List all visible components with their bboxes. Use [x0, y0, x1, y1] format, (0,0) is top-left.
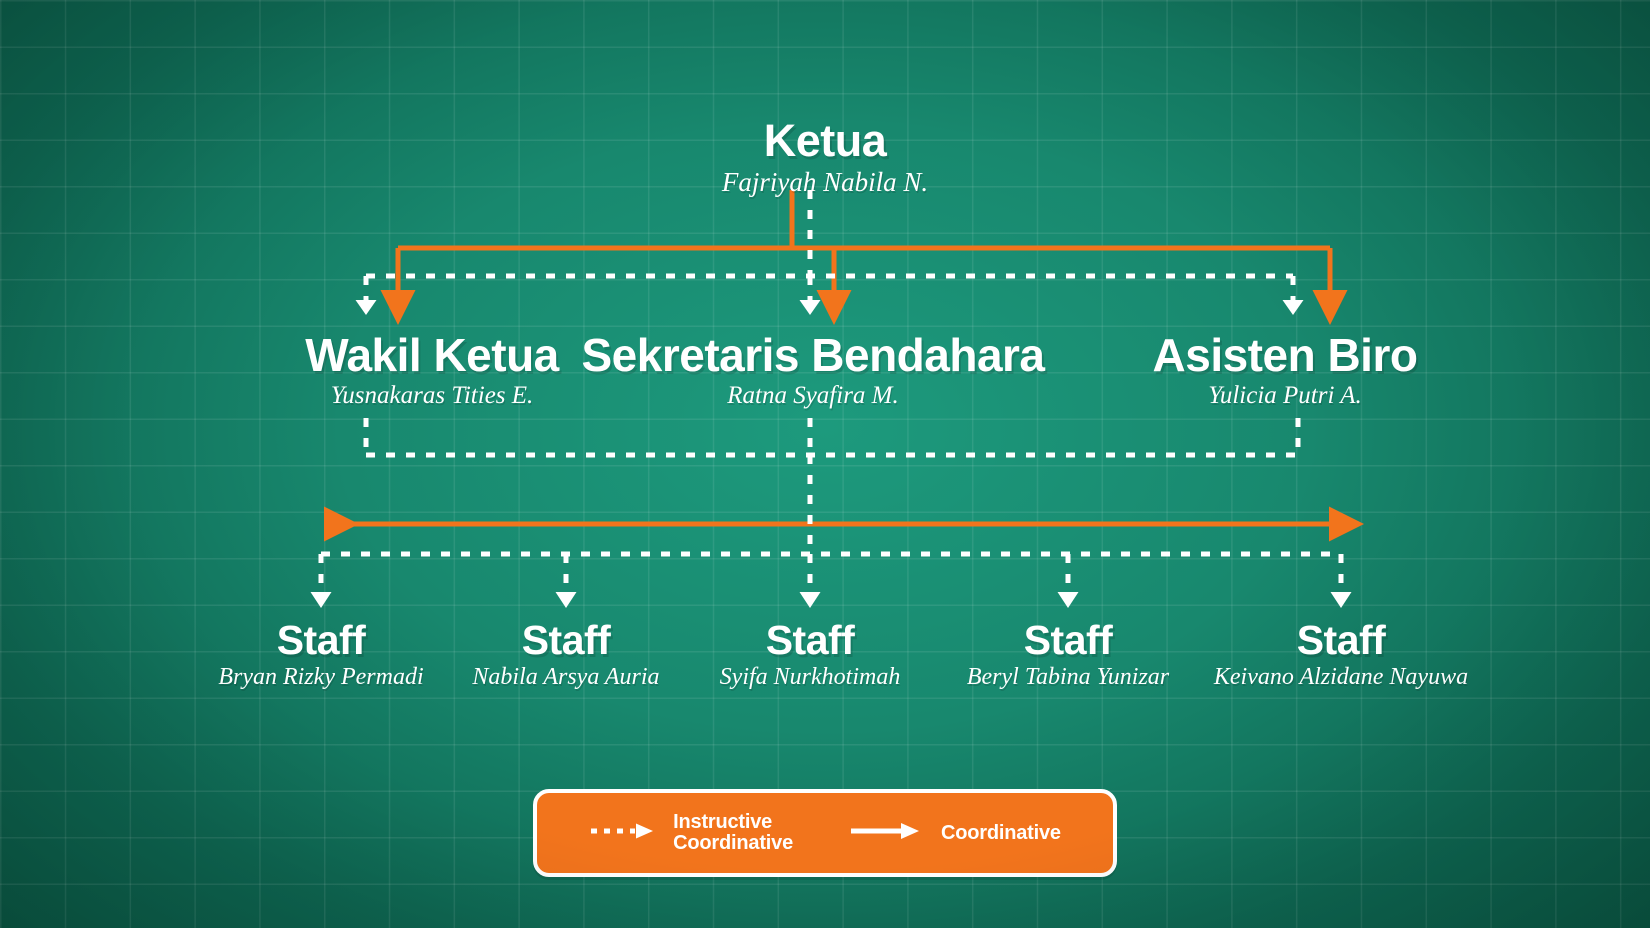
node-person: Fajriyah Nabila N.: [0, 168, 1650, 198]
legend-label-line1: Instructive: [673, 811, 772, 833]
node-ketua[interactable]: Ketua Fajriyah Nabila N.: [0, 118, 1650, 198]
node-title: Staff: [1121, 620, 1561, 661]
legend-item-instructive: Instructive Coordinative: [589, 812, 793, 854]
legend-label: Instructive Coordinative: [673, 812, 793, 854]
solid-arrow-icon: [849, 822, 921, 845]
legend-box: Instructive Coordinative Coordinative: [533, 789, 1117, 877]
node-title: Asisten Biro: [975, 332, 1595, 378]
legend-label-line2: Coordinative: [673, 832, 793, 854]
node-staff-5[interactable]: Staff Keivano Alzidane Nayuwa: [1121, 620, 1561, 690]
node-title: Ketua: [0, 118, 1650, 163]
dotted-arrow-icon: [589, 822, 655, 845]
org-chart-canvas: Ketua Fajriyah Nabila N. Wakil Ketua Yus…: [0, 0, 1650, 928]
node-person: Keivano Alzidane Nayuwa: [1121, 664, 1561, 690]
node-person: Yulicia Putri A.: [975, 382, 1595, 410]
legend-item-coordinative: Coordinative: [849, 822, 1061, 845]
node-asisten-biro[interactable]: Asisten Biro Yulicia Putri A.: [975, 332, 1595, 410]
legend-label: Coordinative: [941, 823, 1061, 844]
